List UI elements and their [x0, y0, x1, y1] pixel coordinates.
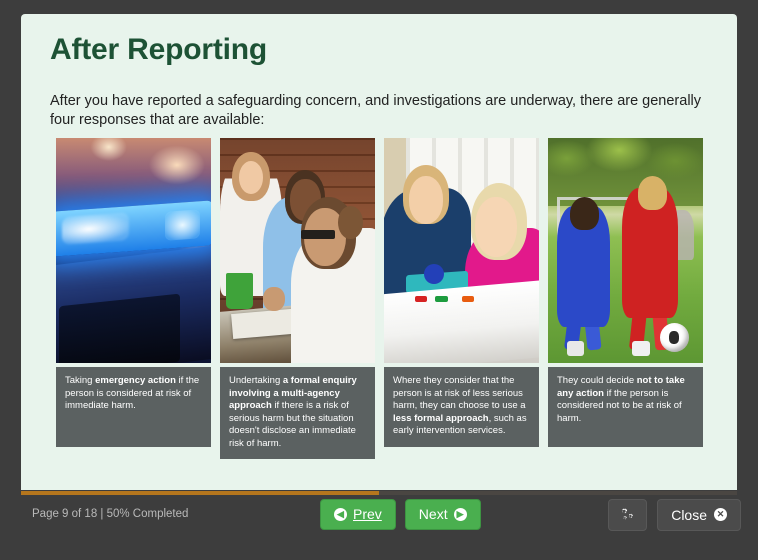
close-button[interactable]: Close ✕: [657, 499, 741, 531]
caption-lead: They could decide: [557, 375, 637, 386]
card-caption: Undertaking a formal enquiry involving a…: [220, 367, 375, 459]
caption-emphasis: less formal approach: [393, 413, 489, 424]
card-image-children-playing-football: [548, 138, 703, 363]
next-button-label: Next: [419, 507, 448, 521]
circle-left-arrow-icon: ◀: [334, 508, 347, 521]
course-player-window: After Reporting After you have reported …: [0, 0, 758, 560]
card-image-police-car-emergency-lights: [56, 138, 211, 363]
prev-button[interactable]: ◀ Prev: [320, 499, 396, 530]
card-image-early-intervention-play-session: [384, 138, 539, 363]
response-card-emergency-action[interactable]: Taking emergency action if the person is…: [56, 138, 211, 459]
response-card-less-formal-approach[interactable]: Where they consider that the person is a…: [384, 138, 539, 459]
caption-lead: Where they consider that the person is a…: [393, 375, 526, 411]
slide-content-area: After Reporting After you have reported …: [21, 14, 737, 490]
caption-emphasis: emergency action: [95, 375, 176, 386]
circle-right-arrow-icon: ▶: [454, 508, 467, 521]
player-footer: Page 9 of 18 | 50% Completed ◀ Prev Next…: [0, 495, 758, 560]
next-button[interactable]: Next ▶: [405, 499, 481, 530]
response-card-formal-enquiry[interactable]: Undertaking a formal enquiry involving a…: [220, 138, 375, 459]
settings-button[interactable]: [608, 499, 647, 531]
page-title: After Reporting: [50, 33, 267, 67]
card-caption: Taking emergency action if the person is…: [56, 367, 211, 447]
gears-settings-icon: [619, 507, 636, 522]
close-button-label: Close: [671, 508, 707, 522]
card-caption: Where they consider that the person is a…: [384, 367, 539, 447]
player-tools: Close ✕: [608, 499, 741, 531]
circle-close-icon: ✕: [714, 508, 727, 521]
response-cards-row: Taking emergency action if the person is…: [56, 138, 711, 459]
slide-intro-text: After you have reported a safeguarding c…: [50, 92, 710, 131]
caption-lead: Taking: [65, 375, 95, 386]
caption-lead: Undertaking: [229, 375, 283, 386]
page-status-text: Page 9 of 18 | 50% Completed: [32, 508, 188, 520]
card-image-multi-agency-meeting: [220, 138, 375, 363]
navigation-buttons: ◀ Prev Next ▶: [320, 499, 481, 530]
prev-button-label: Prev: [353, 507, 382, 521]
card-caption: They could decide not to take any action…: [548, 367, 703, 447]
response-card-no-action[interactable]: They could decide not to take any action…: [548, 138, 703, 459]
